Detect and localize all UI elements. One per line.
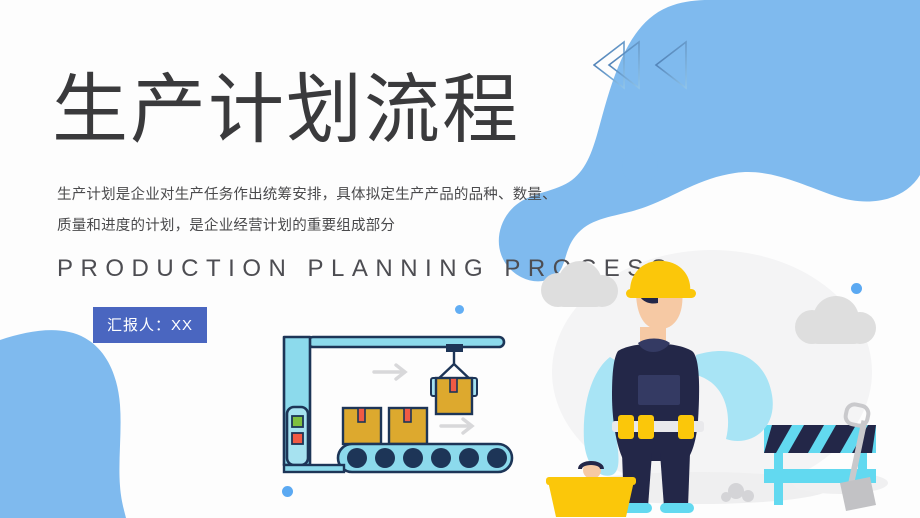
construction-worker-illustration: [540, 255, 920, 518]
slide-root: 生产计划流程 生产计划是企业对生产任务作出统筹安排，具体拟定生产产品的品种、数量…: [0, 0, 920, 518]
tool-pouch-3: [678, 415, 694, 439]
tool-pouch-1: [618, 415, 634, 439]
rewind-triangles-icon: [593, 36, 703, 94]
box-belt-2-tape: [404, 408, 411, 422]
machine-base: [284, 465, 344, 472]
rubble: [721, 483, 754, 502]
blue-circle-large: [622, 148, 658, 184]
flow-arrow-bottom: [441, 419, 472, 433]
page-description: 生产计划是企业对生产任务作出统筹安排，具体拟定生产产品的品种、数量、质量和进度的…: [57, 180, 557, 242]
cloud-left: [541, 261, 618, 307]
overall-pocket: [638, 375, 680, 405]
shovel: [840, 403, 876, 511]
page-title: 生产计划流程: [52, 72, 520, 148]
tool-pouch-2: [638, 415, 654, 439]
blob-top-right: [499, 0, 920, 281]
flow-arrow-top: [374, 365, 405, 379]
shovel-blade: [840, 477, 876, 511]
panel-light-red: [292, 433, 303, 444]
worker-arm-right: [696, 351, 773, 441]
box-belt-1-tape: [358, 408, 365, 422]
toolbox: [548, 481, 634, 517]
hard-hat: [630, 261, 690, 293]
conveyor-belt-illustration: [278, 334, 518, 484]
toolbox-lid: [546, 477, 636, 485]
blue-dot-badge-area: [455, 305, 464, 314]
blob-bottom-left: [0, 330, 126, 518]
crane-mount: [446, 344, 463, 352]
presenter-badge: 汇报人：XX: [94, 308, 206, 342]
triangle-left-3: [656, 42, 686, 88]
worker-shoe-right: [660, 503, 694, 513]
shovel-handle: [844, 403, 870, 427]
hard-hat-brim: [626, 289, 696, 298]
worker-leg-right: [660, 453, 690, 507]
cloud-right: [795, 296, 876, 344]
panel-light-green: [292, 416, 303, 427]
blue-dot-conveyor: [282, 486, 293, 497]
box-crane-tape: [450, 378, 457, 392]
overhead-rail: [308, 337, 504, 347]
